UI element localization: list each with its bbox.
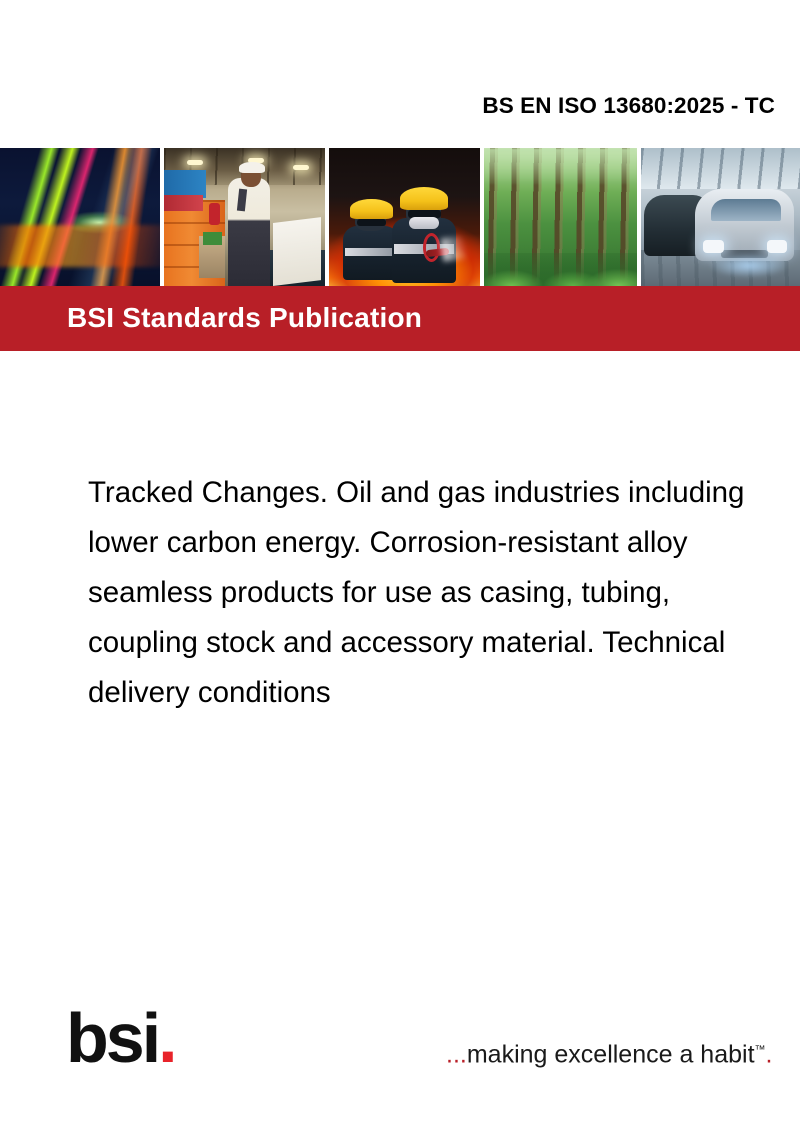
bsi-logo-wordmark: bsi (66, 999, 158, 1077)
cover-image-strip (0, 148, 800, 286)
publication-banner-label: BSI Standards Publication (67, 302, 422, 334)
floor-reflection (708, 253, 791, 278)
bsi-logo-dot: . (158, 999, 174, 1077)
title-line-4: coupling stock and accessory material. T… (88, 618, 800, 668)
breathing-mask (409, 217, 439, 229)
bsi-logo: bsi. (66, 1003, 175, 1073)
car-windshield (711, 199, 781, 221)
cardboard-box (273, 217, 321, 286)
title-line-5: delivery conditions (88, 668, 800, 718)
cover-image-car-assembly-line (641, 148, 800, 286)
cover-image-traffic-light-trails (0, 148, 160, 286)
yellow-helmet (400, 187, 448, 210)
cover-image-warehouse-worker (164, 148, 325, 286)
red-crate (164, 195, 203, 212)
factory-ceiling (641, 148, 800, 189)
background-worker (209, 203, 220, 225)
blue-crate (164, 170, 206, 198)
document-reference: BS EN ISO 13680:2025 - TC (0, 93, 775, 119)
publication-banner: BSI Standards Publication (0, 286, 800, 351)
trademark-icon: ™ (755, 1044, 766, 1056)
forest-undergrowth (484, 253, 637, 286)
worker-cap (239, 162, 265, 173)
bsi-tagline: ...making excellence a habit™. (446, 1035, 772, 1069)
title-line-3: seamless products for use as casing, tub… (88, 568, 800, 618)
water-spray (441, 236, 467, 262)
ceiling-light (293, 165, 309, 170)
helmet-visor (357, 219, 386, 226)
cover-image-forest (484, 148, 637, 286)
ceiling-light (187, 160, 203, 165)
tagline-text: making excellence a habit (467, 1040, 755, 1068)
green-box (203, 232, 222, 244)
car-headlight (767, 240, 788, 252)
forest-canopy (484, 148, 637, 184)
tagline-ellipsis: ... (446, 1040, 467, 1068)
title-line-1: Tracked Changes. Oil and gas industries … (88, 468, 800, 518)
tagline-period: . (766, 1040, 773, 1068)
standard-title: Tracked Changes. Oil and gas industries … (88, 468, 800, 718)
worker-body (228, 178, 270, 286)
hose-reel (423, 233, 440, 262)
car-headlight (703, 240, 724, 252)
firefighter-front (386, 178, 462, 283)
title-line-2: lower carbon energy. Corrosion-resistant… (88, 518, 800, 568)
cover-image-firefighters (329, 148, 480, 286)
